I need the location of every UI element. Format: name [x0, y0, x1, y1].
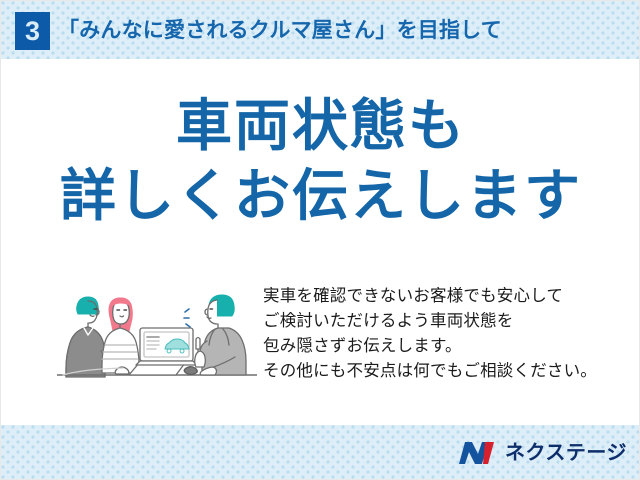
promotional-banner: 3 「みんなに愛されるクルマ屋さん」を目指して 車両状態も 詳しくお伝えします [0, 0, 640, 480]
laptop [136, 328, 197, 365]
customer-consultation-illustration [57, 279, 257, 391]
body-copy-line-1: 実車を確認できないお客様でも安心して [263, 284, 613, 309]
nextage-logo: ネクステージ [458, 439, 627, 467]
header-title: 「みんなに愛されるクルマ屋さん」を目指して [58, 14, 502, 48]
body-copy: 実車を確認できないお客様でも安心して ご検討いただけるよう車両状態を 包み隠さず… [263, 284, 613, 384]
speech-marks-icon [184, 309, 190, 327]
body-copy-line-3: 包み隠さずお伝えします。 [263, 334, 613, 359]
headline-line-1: 車両状態も [1, 93, 640, 159]
nextage-n-logo-icon [458, 440, 498, 466]
female-customer-figure [102, 298, 139, 374]
headline-line-2: 詳しくお伝えします [1, 163, 640, 229]
nextage-wordmark: ネクステージ [505, 440, 627, 466]
header-step-badge: 3 [15, 12, 50, 50]
headline: 車両状態も 詳しくお伝えします [1, 93, 640, 229]
body-copy-line-2: ご検討いただけるよう車両状態を [263, 309, 613, 334]
male-customer-figure [66, 297, 105, 377]
illustration-svg [57, 279, 257, 391]
computer-mouse [184, 367, 197, 375]
body-copy-line-4: その他にも不安点は何でもご相談ください。 [263, 359, 613, 384]
sales-staff-figure [195, 295, 246, 375]
